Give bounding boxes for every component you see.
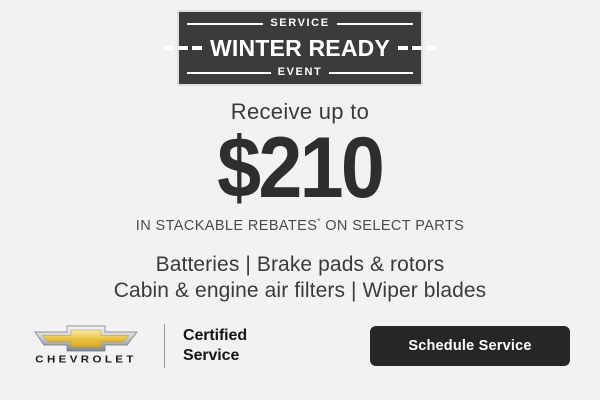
dash-mark: [412, 46, 422, 50]
dash-mark: [192, 46, 202, 50]
advertisement-footer: CHEVROLET Certified Service Schedule Ser…: [0, 316, 600, 376]
chevrolet-brand-mark: CHEVROLET: [30, 325, 142, 367]
rebate-description: IN STACKABLE REBATES* ON SELECT PARTS: [136, 219, 464, 234]
banner-dashes-right: [398, 46, 436, 50]
banner-dashes-left: [164, 46, 202, 50]
schedule-service-button[interactable]: Schedule Service: [370, 326, 570, 366]
banner-rule-right: [337, 23, 413, 25]
banner-rule-left-lower: [187, 72, 271, 74]
eligible-parts-list: Batteries | Brake pads & rotors Cabin & …: [114, 252, 487, 306]
rebate-text-after: ON SELECT PARTS: [321, 218, 464, 234]
certified-service-label: Certified Service: [183, 326, 247, 365]
certified-line-1: Certified: [183, 326, 247, 346]
dash-mark: [178, 46, 188, 50]
chevrolet-wordmark: CHEVROLET: [35, 356, 137, 366]
rebate-text-before: IN STACKABLE REBATES: [136, 218, 318, 234]
service-offer-advertisement: SERVICE WINTER READY EVENT Receive up to…: [0, 0, 600, 400]
parts-line-2: Cabin & engine air filters | Wiper blade…: [114, 278, 487, 305]
offer-amount: $210: [218, 125, 383, 211]
certified-line-2: Service: [183, 346, 247, 366]
dash-mark: [398, 46, 408, 50]
banner-subline-row: EVENT: [179, 64, 421, 81]
brand-divider: [164, 324, 165, 368]
banner-title-row: WINTER READY: [179, 32, 421, 64]
banner-title: WINTER READY: [202, 37, 398, 60]
parts-line-1: Batteries | Brake pads & rotors: [114, 252, 487, 279]
banner-rule-left: [187, 23, 263, 25]
banner-eyebrow-row: SERVICE: [179, 15, 421, 32]
dash-mark: [426, 46, 436, 50]
banner-subline-label: EVENT: [271, 67, 330, 78]
banner-rule-right-lower: [329, 72, 413, 74]
chevrolet-certified-service-lockup: CHEVROLET Certified Service: [30, 324, 247, 368]
banner-eyebrow-label: SERVICE: [263, 18, 336, 29]
dash-mark: [164, 46, 174, 50]
winter-ready-event-banner: SERVICE WINTER READY EVENT: [177, 10, 423, 86]
chevrolet-bowtie-icon: [33, 325, 139, 352]
